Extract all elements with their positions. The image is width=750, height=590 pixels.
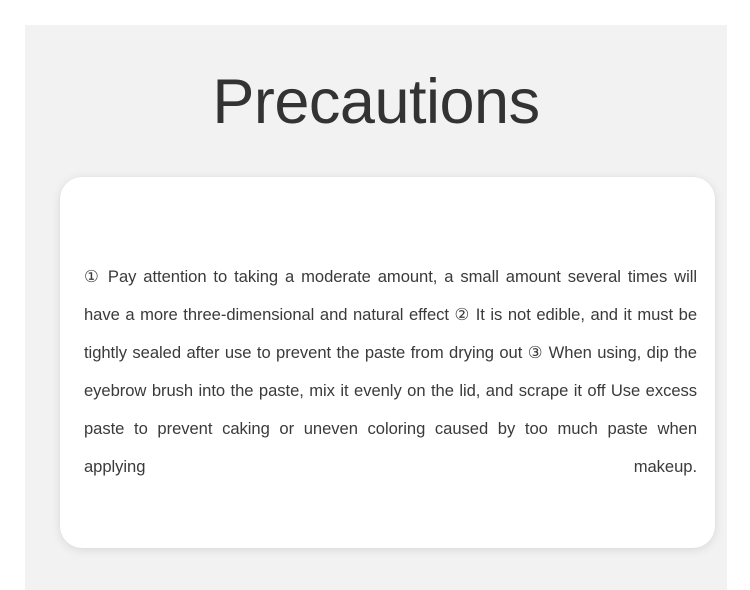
- content-panel: Precautions ① Pay attention to taking a …: [25, 25, 727, 590]
- precautions-paragraph: ① Pay attention to taking a moderate amo…: [84, 258, 697, 524]
- precautions-card: ① Pay attention to taking a moderate amo…: [60, 177, 715, 548]
- page-title: Precautions: [25, 71, 727, 134]
